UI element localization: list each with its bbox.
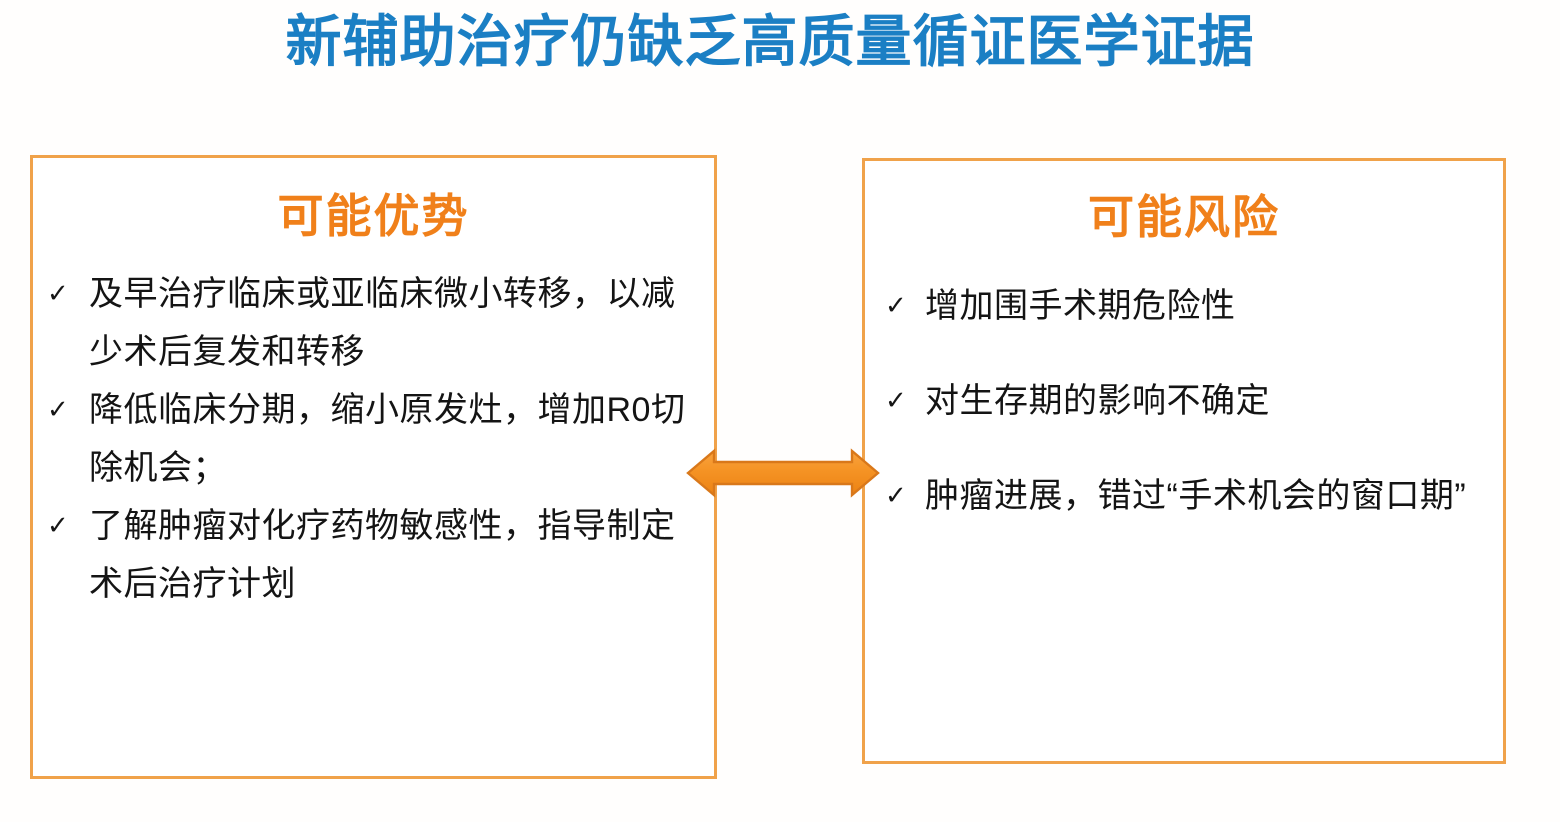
check-icon: ✓ (47, 497, 89, 555)
risks-panel-heading: 可能风险 (865, 189, 1503, 245)
check-icon: ✓ (885, 277, 925, 335)
slide-canvas: 新辅助治疗仍缺乏高质量循证医学证据 可能优势 ✓ 及早治疗临床或亚临床微小转移，… (0, 0, 1560, 822)
list-item-text: 了解肿瘤对化疗药物敏感性，指导制定术后治疗计划 (89, 497, 704, 613)
risks-panel: 可能风险 ✓ 增加围手术期危险性 ✓ 对生存期的影响不确定 ✓ 肿瘤进展，错过“… (862, 158, 1506, 764)
list-item: ✓ 肿瘤进展，错过“手术机会的窗口期” (885, 467, 1489, 525)
double-headed-arrow-icon (686, 447, 880, 499)
list-item: ✓ 增加围手术期危险性 (885, 277, 1489, 335)
check-icon: ✓ (885, 372, 925, 430)
benefits-panel-heading: 可能优势 (33, 188, 714, 244)
list-item: ✓ 及早治疗临床或亚临床微小转移，以减少术后复发和转移 (47, 265, 704, 381)
list-item: ✓ 了解肿瘤对化疗药物敏感性，指导制定术后治疗计划 (47, 497, 704, 613)
list-item-text: 降低临床分期，缩小原发灶，增加R0切除机会； (89, 381, 704, 497)
list-item-text: 增加围手术期危险性 (925, 277, 1489, 335)
check-icon: ✓ (885, 467, 925, 525)
check-icon: ✓ (47, 381, 89, 439)
benefits-bullet-list: ✓ 及早治疗临床或亚临床微小转移，以减少术后复发和转移 ✓ 降低临床分期，缩小原… (33, 265, 714, 613)
page-title: 新辅助治疗仍缺乏高质量循证医学证据 (0, 8, 1540, 76)
benefits-panel: 可能优势 ✓ 及早治疗临床或亚临床微小转移，以减少术后复发和转移 ✓ 降低临床分… (30, 155, 717, 779)
check-icon: ✓ (47, 265, 89, 323)
list-item: ✓ 降低临床分期，缩小原发灶，增加R0切除机会； (47, 381, 704, 497)
list-item-text: 肿瘤进展，错过“手术机会的窗口期” (925, 467, 1489, 525)
list-item-text: 对生存期的影响不确定 (925, 372, 1489, 430)
list-item: ✓ 对生存期的影响不确定 (885, 372, 1489, 430)
risks-bullet-list: ✓ 增加围手术期危险性 ✓ 对生存期的影响不确定 ✓ 肿瘤进展，错过“手术机会的… (865, 277, 1503, 562)
list-item-text: 及早治疗临床或亚临床微小转移，以减少术后复发和转移 (89, 265, 704, 381)
